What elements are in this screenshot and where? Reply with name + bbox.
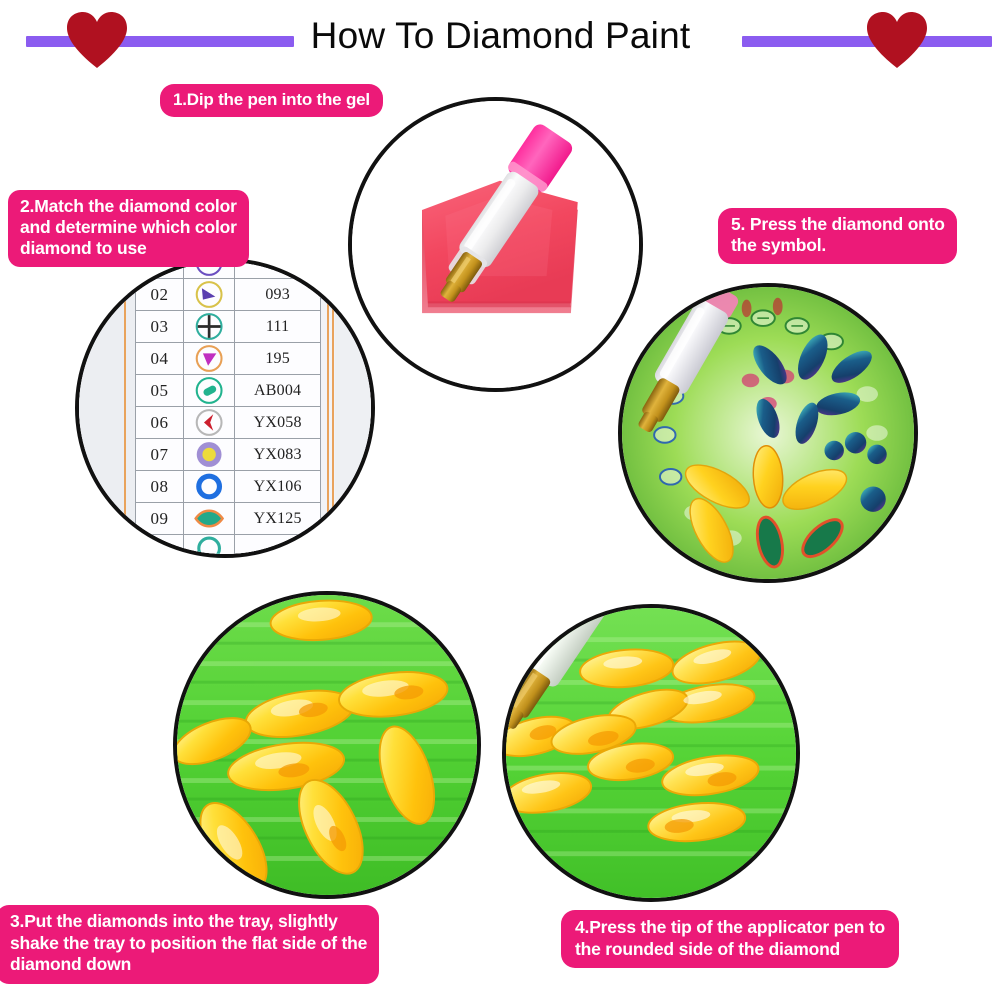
table-row: 07 YX083	[136, 439, 321, 471]
chart-code: AB004	[235, 375, 321, 407]
chart-index: 05	[136, 375, 184, 407]
step-3-label-line-1: 3.Put the diamonds into the tray, slight…	[10, 911, 367, 933]
triangle-filled-icon	[184, 343, 234, 374]
chart-symbol	[183, 407, 234, 439]
step-1-label-line-1: 1.Dip the pen into the gel	[173, 90, 370, 110]
chart-code	[235, 535, 321, 559]
chart-index: 03	[136, 311, 184, 343]
step-5-label-line-2: the symbol.	[731, 235, 945, 256]
ring-icon	[184, 471, 234, 502]
plus-icon	[184, 311, 234, 342]
page-header: How To Diamond Paint	[0, 0, 1001, 75]
chart-symbol	[183, 439, 234, 471]
table-row: 09 YX125	[136, 503, 321, 535]
chart-index: 07	[136, 439, 184, 471]
chart-margin-line-2	[327, 262, 329, 554]
step-4-photo	[502, 604, 800, 902]
table-row	[136, 535, 321, 559]
ring-icon	[184, 535, 234, 558]
step-4-label: 4.Press the tip of the applicator pen to…	[561, 910, 899, 968]
table-row: 04 195	[136, 343, 321, 375]
step-5-photo	[618, 283, 918, 583]
table-row: 06 YX058	[136, 407, 321, 439]
chart-index: 04	[136, 343, 184, 375]
step-3-label-line-2: shake the tray to position the flat side…	[10, 933, 367, 955]
canvas-with-diamonds-illustration	[622, 287, 914, 579]
chart-symbol	[183, 279, 234, 311]
table-row: 03 111	[136, 311, 321, 343]
step-3-photo	[173, 591, 481, 899]
chart-code: 093	[235, 279, 321, 311]
chart-margin-line-1	[124, 262, 126, 554]
step-2-label-line-1: 2.Match the diamond color	[20, 196, 237, 217]
chart-index: 06	[136, 407, 184, 439]
chart-index: 08	[136, 471, 184, 503]
chart-index: 09	[136, 503, 184, 535]
step-2-label-line-2: and determine which color	[20, 217, 237, 238]
chart-symbol	[183, 375, 234, 407]
triangle-filled-icon	[184, 279, 234, 310]
chart-symbol	[183, 471, 234, 503]
color-chart-table: 026 02 093 03	[135, 258, 321, 558]
step-3-label: 3.Put the diamonds into the tray, slight…	[0, 905, 379, 984]
table-row: 05 AB004	[136, 375, 321, 407]
chart-margin-line-3	[332, 262, 334, 554]
chart-code: YX058	[235, 407, 321, 439]
chart-code: YX083	[235, 439, 321, 471]
step-2-label-line-3: diamond to use	[20, 238, 237, 259]
step-2-photo: 026 02 093 03	[75, 258, 375, 558]
step-5-label: 5. Press the diamond onto the symbol.	[718, 208, 957, 264]
dot-in-ring-icon	[184, 439, 234, 470]
step-4-label-line-2: the rounded side of the diamond	[575, 939, 885, 961]
capsule-icon	[184, 375, 234, 406]
chart-index	[136, 535, 184, 559]
chart-paper-right-margin	[335, 262, 371, 554]
table-row: 02 093	[136, 279, 321, 311]
chart-code: YX125	[235, 503, 321, 535]
chart-code: 195	[235, 343, 321, 375]
chevron-left-icon	[184, 407, 234, 438]
diamonds-in-tray-illustration	[177, 595, 477, 895]
step-1-label: 1.Dip the pen into the gel	[160, 84, 383, 117]
chart-symbol	[183, 503, 234, 535]
chart-symbol	[183, 535, 234, 559]
chart-symbol	[183, 343, 234, 375]
page-title: How To Diamond Paint	[0, 14, 1001, 58]
step-3-label-line-3: diamond down	[10, 954, 367, 976]
chart-code: YX106	[235, 471, 321, 503]
gel-pad-and-pen-illustration	[352, 101, 639, 388]
step-1-photo	[348, 97, 643, 392]
leaf-icon	[184, 503, 234, 534]
chart-code: 026	[235, 258, 321, 279]
step-5-label-line-1: 5. Press the diamond onto	[731, 214, 945, 235]
chart-code: 111	[235, 311, 321, 343]
table-row: 08 YX106	[136, 471, 321, 503]
pen-pressing-diamond-illustration	[506, 608, 796, 898]
chart-index: 02	[136, 279, 184, 311]
step-2-label: 2.Match the diamond color and determine …	[8, 190, 249, 267]
color-symbol-chart: 026 02 093 03	[79, 262, 371, 554]
chart-symbol	[183, 311, 234, 343]
chart-paper-left-margin	[79, 262, 135, 554]
step-4-label-line-1: 4.Press the tip of the applicator pen to	[575, 917, 885, 939]
